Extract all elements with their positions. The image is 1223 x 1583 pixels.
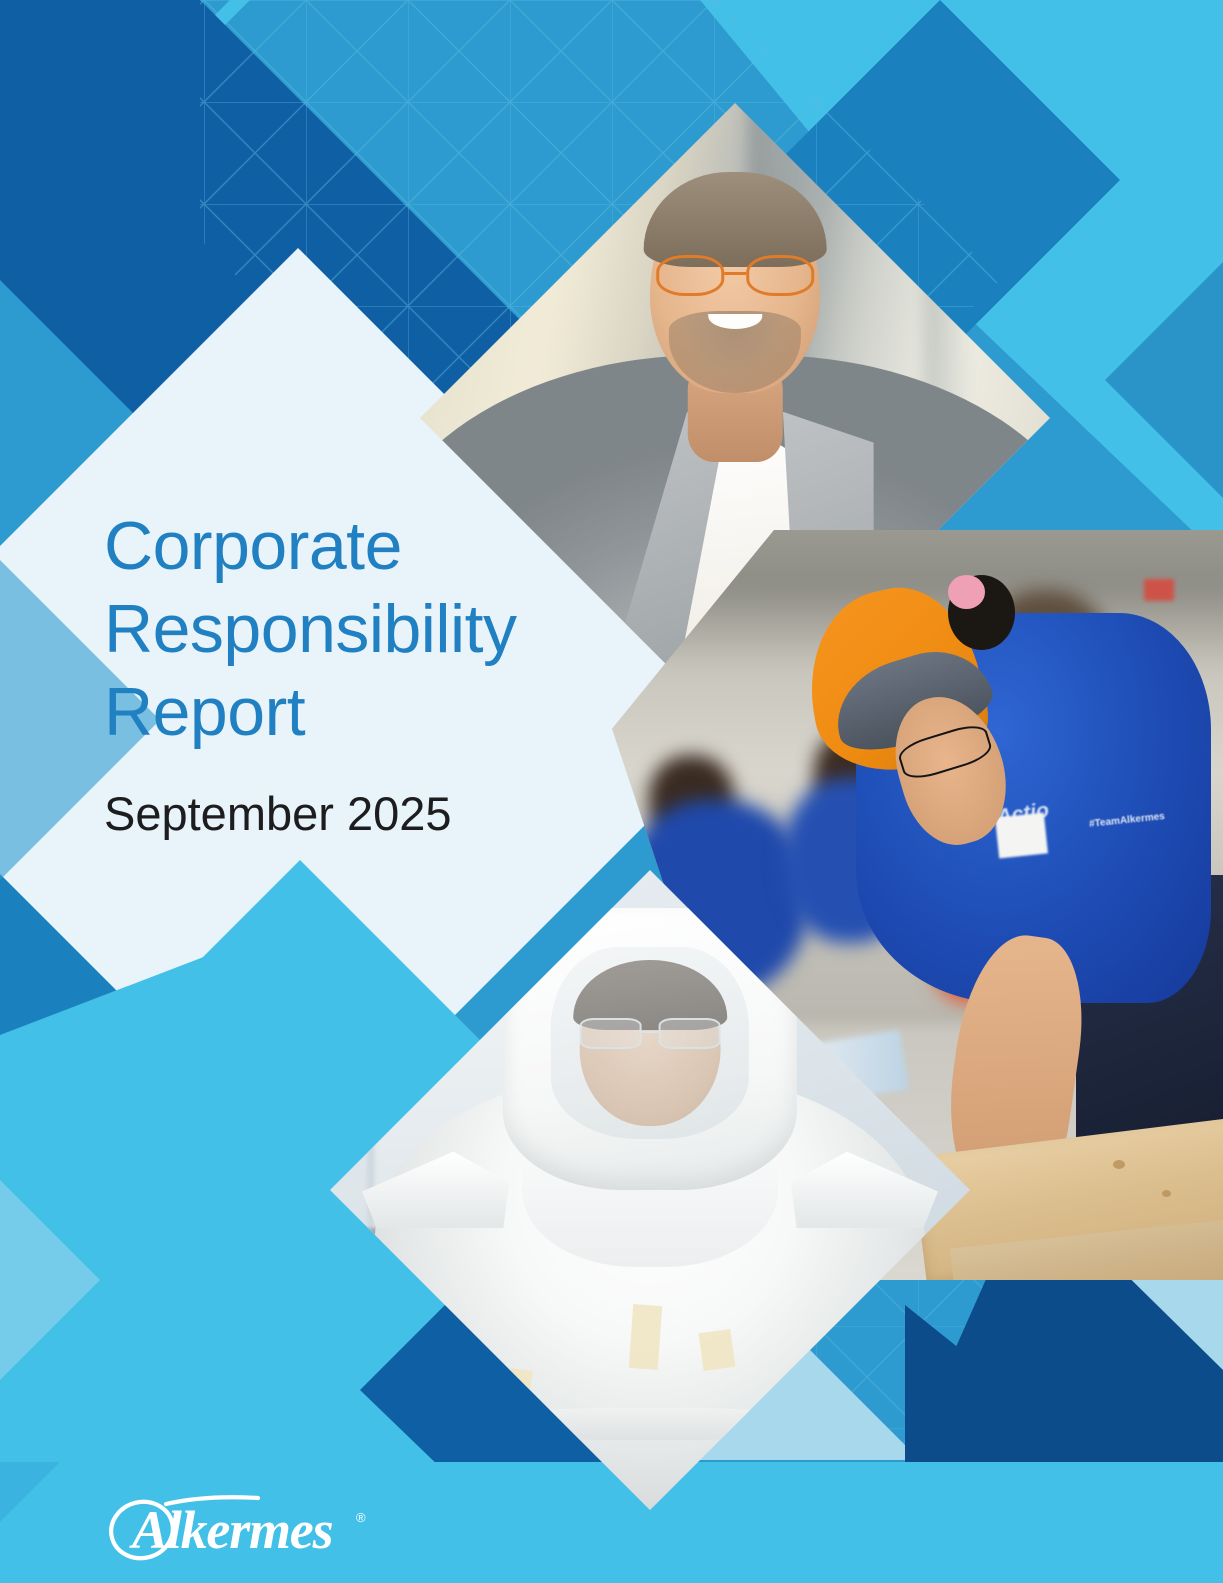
alkermes-logo: Alkermes ® xyxy=(108,1492,376,1568)
hair-scrunchie xyxy=(948,575,985,609)
page-title: Corporate Responsibility Report xyxy=(104,505,624,754)
gown-tie-1 xyxy=(629,1304,662,1370)
exit-sign xyxy=(1144,579,1175,602)
report-date: September 2025 xyxy=(104,788,624,840)
gown-tie-2 xyxy=(699,1329,736,1371)
logo-wordmark: Alkermes xyxy=(129,1500,333,1560)
orange-eyeglasses-icon xyxy=(656,255,814,295)
report-cover-page: kerme Actio #TeamAlkermes xyxy=(0,0,1223,1583)
volunteer-name-tag xyxy=(995,813,1048,859)
wood-knot xyxy=(1113,1160,1125,1169)
logo-trademark-symbol: ® xyxy=(356,1510,366,1525)
title-block: Corporate Responsibility Report Septembe… xyxy=(104,505,624,840)
hood-visor xyxy=(551,947,749,1139)
wood-knot-2 xyxy=(1162,1190,1171,1197)
